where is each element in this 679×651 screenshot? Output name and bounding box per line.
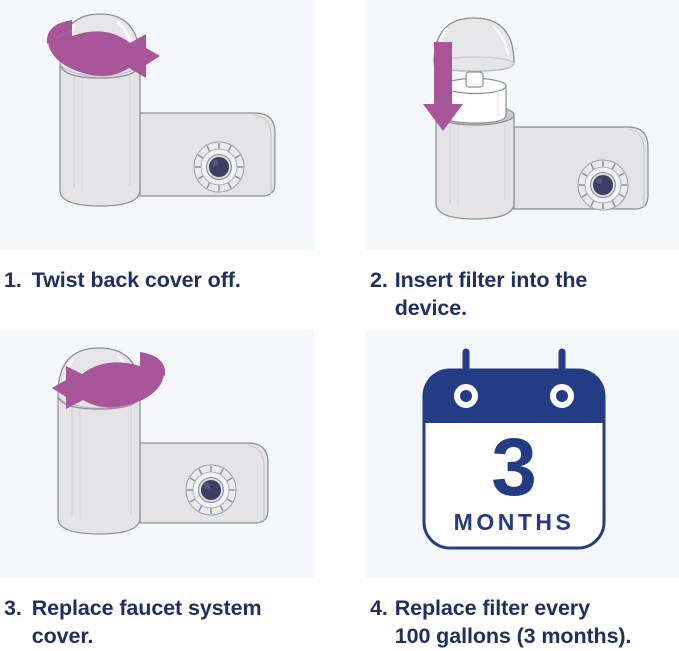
step-4-caption: 4. Replace filter every 100 gallons (3 m… — [366, 578, 679, 651]
step-2-number: 2. — [370, 266, 388, 294]
calendar-label: MONTHS — [454, 509, 575, 535]
step-1-text: Twist back cover off. — [32, 266, 310, 294]
step-4-illustration: 3 MONTHS — [366, 330, 679, 578]
calendar-three-months-icon: 3 MONTHS — [366, 330, 679, 578]
step-1-number: 1. — [4, 266, 22, 294]
step-1-illustration — [0, 0, 314, 250]
instruction-grid: 1. Twist back cover off. — [0, 0, 679, 649]
step-3-text: Replace faucet system cover. — [32, 594, 310, 651]
instruction-step-3: 3. Replace faucet system cover. — [0, 330, 314, 649]
faucet-twist-cover-off-drawing — [0, 0, 314, 250]
faucet-dial-icon — [194, 142, 244, 192]
faucet-dial-icon — [578, 160, 628, 210]
step-4-number: 4. — [370, 594, 388, 622]
step-3-illustration — [0, 330, 314, 578]
step-2-caption: 2. Insert filter into the device. — [366, 250, 679, 323]
step-3-number: 3. — [4, 594, 22, 622]
calendar-big-number: 3 — [491, 422, 537, 513]
step-3-caption: 3. Replace faucet system cover. — [0, 578, 314, 651]
instruction-step-2: 2. Insert filter into the device. — [366, 0, 679, 325]
instruction-step-4: 3 MONTHS 4. Replace filter every 100 gal… — [366, 330, 679, 649]
step-1-caption: 1. Twist back cover off. — [0, 250, 314, 294]
step-4-text: Replace filter every 100 gallons (3 mont… — [395, 594, 675, 651]
step-2-illustration — [366, 0, 679, 250]
faucet-replace-cover-drawing — [0, 330, 314, 578]
faucet-insert-filter-drawing — [366, 0, 679, 250]
instruction-step-1: 1. Twist back cover off. — [0, 0, 314, 325]
faucet-dial-icon — [186, 465, 236, 515]
step-2-text: Insert filter into the device. — [395, 266, 675, 323]
